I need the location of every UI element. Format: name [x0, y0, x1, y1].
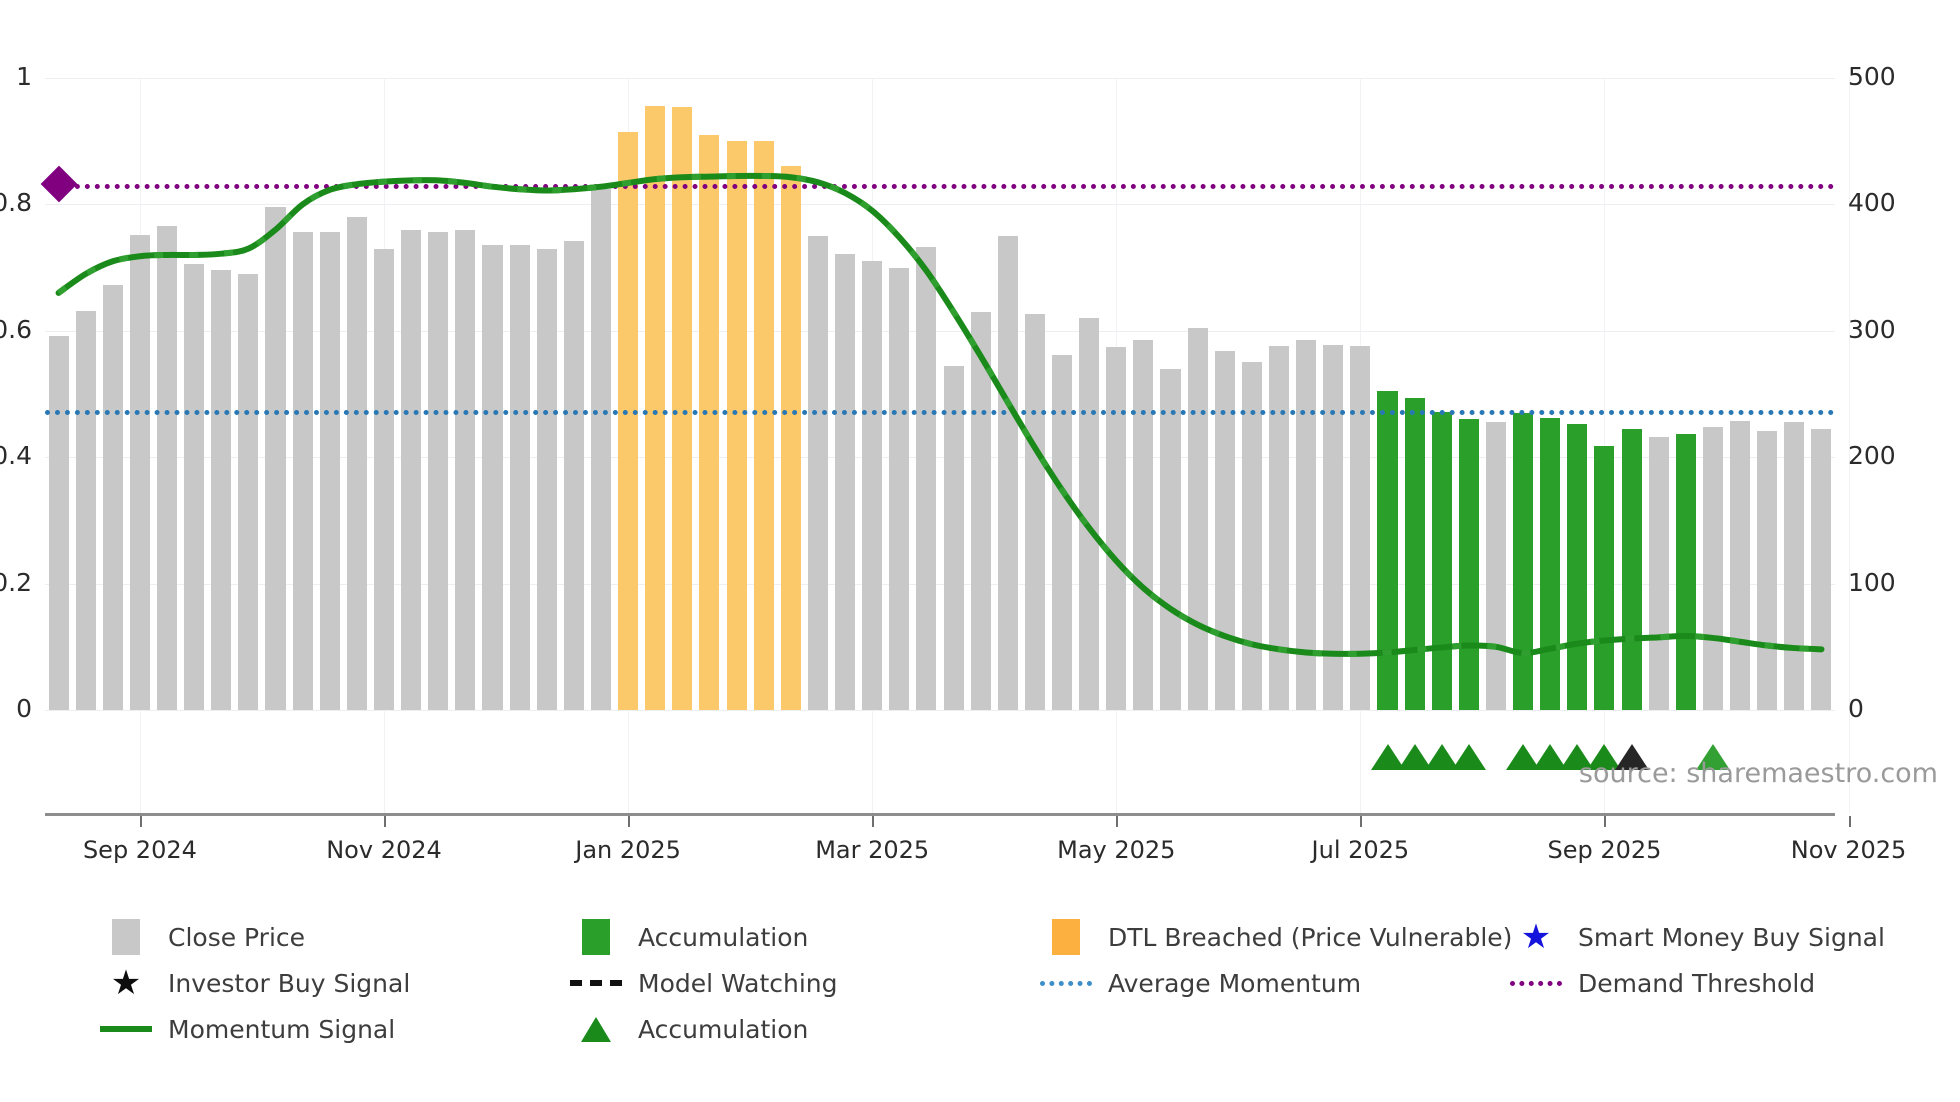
dashed-line-icon [570, 980, 622, 986]
legend-item[interactable]: Average Momentum [1040, 964, 1510, 1002]
legend-item[interactable]: Momentum Signal [100, 1010, 570, 1048]
chart-canvas: 00.20.40.60.81 0100200300400500 Sep 2024… [0, 0, 1960, 1102]
x-axis-tick [1849, 816, 1851, 827]
legend-item-label: Investor Buy Signal [168, 969, 410, 998]
chart-legend: Close PriceAccumulationDTL Breached (Pri… [100, 918, 1940, 1048]
x-axis-tick [628, 816, 630, 827]
x-axis-tick-label: Jul 2025 [1312, 836, 1410, 864]
legend-item-label: Accumulation [638, 1015, 808, 1044]
dotted-line-icon [1510, 981, 1562, 986]
plot-area [45, 78, 1835, 710]
x-axis-tick-label: Mar 2025 [815, 836, 929, 864]
legend-item[interactable]: DTL Breached (Price Vulnerable) [1040, 918, 1510, 956]
legend-item-label: Smart Money Buy Signal [1578, 923, 1885, 952]
x-axis-tick [1116, 816, 1118, 827]
right-axis-tick-label: 400 [1848, 188, 1896, 217]
legend-item[interactable]: Close Price [100, 918, 570, 956]
star-icon: ★ [1521, 920, 1551, 954]
right-axis-tick-label: 500 [1848, 62, 1896, 91]
x-axis-tick-label: May 2025 [1057, 836, 1175, 864]
x-axis-tick-label: Sep 2024 [83, 836, 197, 864]
solid-line-icon [100, 1026, 152, 1032]
legend-item[interactable]: ★Investor Buy Signal [100, 964, 570, 1002]
x-axis-tick [1360, 816, 1362, 827]
left-axis-tick-label: 0.4 [0, 441, 32, 470]
left-axis-tick-label: 0.6 [0, 315, 32, 344]
right-axis-tick-label: 0 [1848, 694, 1864, 723]
legend-item-label: Accumulation [638, 923, 808, 952]
x-axis-tick-label: Nov 2024 [326, 836, 442, 864]
dotted-line-icon [1040, 981, 1092, 986]
legend-item-label: Model Watching [638, 969, 838, 998]
legend-square-icon [582, 919, 610, 955]
x-axis-line [45, 813, 1835, 816]
legend-item[interactable]: Accumulation [570, 1010, 1040, 1048]
x-axis-tick [872, 816, 874, 827]
legend-square-icon [112, 919, 140, 955]
x-axis-tick [140, 816, 142, 827]
legend-item-label: DTL Breached (Price Vulnerable) [1108, 923, 1512, 952]
left-axis-tick-label: 1 [16, 62, 32, 91]
x-axis-tick-label: Jan 2025 [575, 836, 681, 864]
x-axis-tick [384, 816, 386, 827]
right-axis-tick-label: 200 [1848, 441, 1896, 470]
left-axis-tick-label: 0.8 [0, 188, 32, 217]
left-axis-tick-label: 0.2 [0, 568, 32, 597]
legend-item-label: Momentum Signal [168, 1015, 395, 1044]
legend-item[interactable]: Accumulation [570, 918, 1040, 956]
legend-item-label: Average Momentum [1108, 969, 1361, 998]
left-axis-tick-label: 0 [16, 694, 32, 723]
legend-item[interactable]: Demand Threshold [1510, 964, 1940, 1002]
legend-item-label: Close Price [168, 923, 305, 952]
legend-item[interactable]: Model Watching [570, 964, 1040, 1002]
legend-item-label: Demand Threshold [1578, 969, 1815, 998]
triangle-icon [581, 1017, 611, 1042]
accumulation-triangle-marker [1452, 744, 1486, 770]
x-axis-tick-label: Sep 2025 [1547, 836, 1661, 864]
star-icon: ★ [111, 966, 141, 1000]
legend-item[interactable]: ★Smart Money Buy Signal [1510, 918, 1940, 956]
right-axis-tick-label: 300 [1848, 315, 1896, 344]
gridline [45, 710, 1835, 711]
x-axis-tick [1604, 816, 1606, 827]
momentum-signal-line [45, 78, 1835, 710]
source-attribution: source: sharemaestro.com [1579, 758, 1938, 789]
legend-square-icon [1052, 919, 1080, 955]
right-axis-tick-label: 100 [1848, 568, 1896, 597]
x-axis-tick-label: Nov 2025 [1791, 836, 1907, 864]
